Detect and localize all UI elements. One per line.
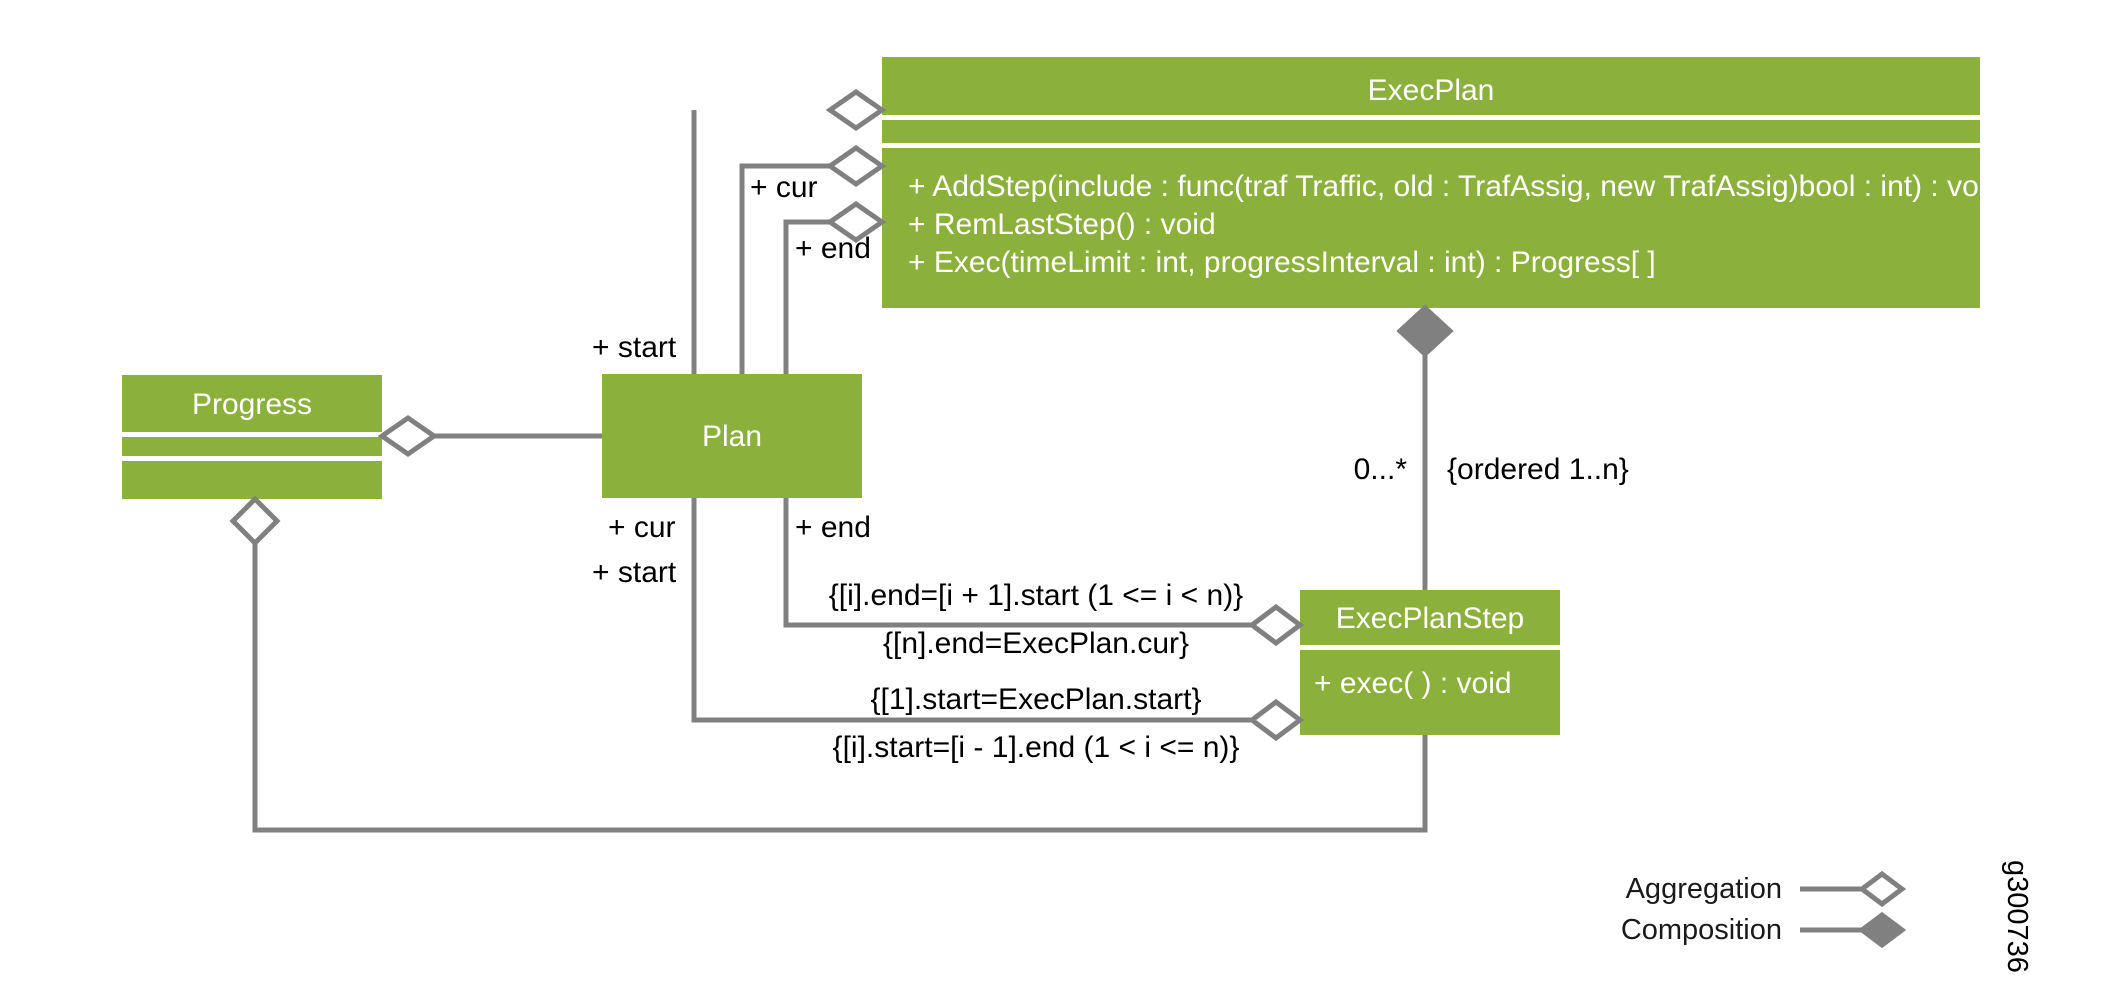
class-box-progress[interactable]: Progress <box>122 375 382 499</box>
legend: Aggregation Composition <box>1621 873 1902 946</box>
execplan-operation-addstep: + AddStep(include : func(traf Traffic, o… <box>908 170 2002 203</box>
execplanstep-operation-exec: + exec( ) : void <box>1314 667 1512 700</box>
diagram-canvas: ExecPlan + AddStep(include : func(traf T… <box>0 0 2101 992</box>
figure-id: g300736 <box>2001 860 2033 973</box>
multiplicity-steps-ordering: {ordered 1..n} <box>1447 453 1629 486</box>
role-label-cur-top: + cur <box>750 171 818 204</box>
filled-diamond-icon-execplan <box>1400 308 1450 354</box>
hollow-diamond-icon-step-end <box>1252 607 1300 643</box>
filled-diamond-icon-legend <box>1862 915 1902 945</box>
constraint-first-start: {[1].start=ExecPlan.start} <box>870 683 1201 716</box>
progress-attributes-compartment <box>122 437 382 456</box>
constraint-end-chain: {[i].end=[i + 1].start (1 <= i < n)} <box>829 579 1243 612</box>
hollow-diamond-icon-progress-bottom <box>233 499 277 543</box>
role-label-end-top: + end <box>795 232 871 265</box>
progress-operations-compartment <box>122 461 382 499</box>
figure-id-text: g300736 <box>2001 860 2033 973</box>
hollow-diamond-icon-progress-plan <box>382 418 434 454</box>
execplan-operation-remlaststep: + RemLastStep() : void <box>908 208 1216 241</box>
role-label-end-bottom: + end <box>795 511 871 544</box>
class-box-plan[interactable]: Plan <box>602 374 862 498</box>
execplanstep-class-name: ExecPlanStep <box>1336 602 1524 635</box>
role-label-cur-bottom: + cur <box>608 511 676 544</box>
role-label-start-top: + start <box>592 331 677 364</box>
role-label-start-bottom: + start <box>592 556 677 589</box>
execplan-class-name: ExecPlan <box>1368 74 1495 107</box>
assoc-execplanstep-progress <box>255 522 1425 830</box>
constraint-last-end: {[n].end=ExecPlan.cur} <box>883 627 1189 660</box>
legend-label-composition: Composition <box>1621 914 1782 946</box>
uml-class-diagram: ExecPlan + AddStep(include : func(traf T… <box>0 0 2101 992</box>
multiplicity-steps-count: 0...* <box>1354 453 1408 486</box>
execplan-operation-exec: + Exec(timeLimit : int, progressInterval… <box>908 246 1656 279</box>
constraint-start-chain: {[i].start=[i - 1].end (1 < i <= n)} <box>833 731 1240 764</box>
execplan-attributes-compartment <box>882 120 1980 143</box>
class-box-execplan[interactable]: ExecPlan + AddStep(include : func(traf T… <box>882 57 2002 308</box>
class-box-execplanstep[interactable]: ExecPlanStep + exec( ) : void <box>1300 590 1560 735</box>
plan-class-name: Plan <box>702 420 762 453</box>
hollow-diamond-icon-cur <box>830 148 882 184</box>
hollow-diamond-icon-start <box>830 92 882 128</box>
hollow-diamond-icon-step-start <box>1252 702 1300 738</box>
progress-class-name: Progress <box>192 388 312 421</box>
hollow-diamond-icon-legend <box>1862 874 1902 904</box>
legend-label-aggregation: Aggregation <box>1626 873 1782 905</box>
